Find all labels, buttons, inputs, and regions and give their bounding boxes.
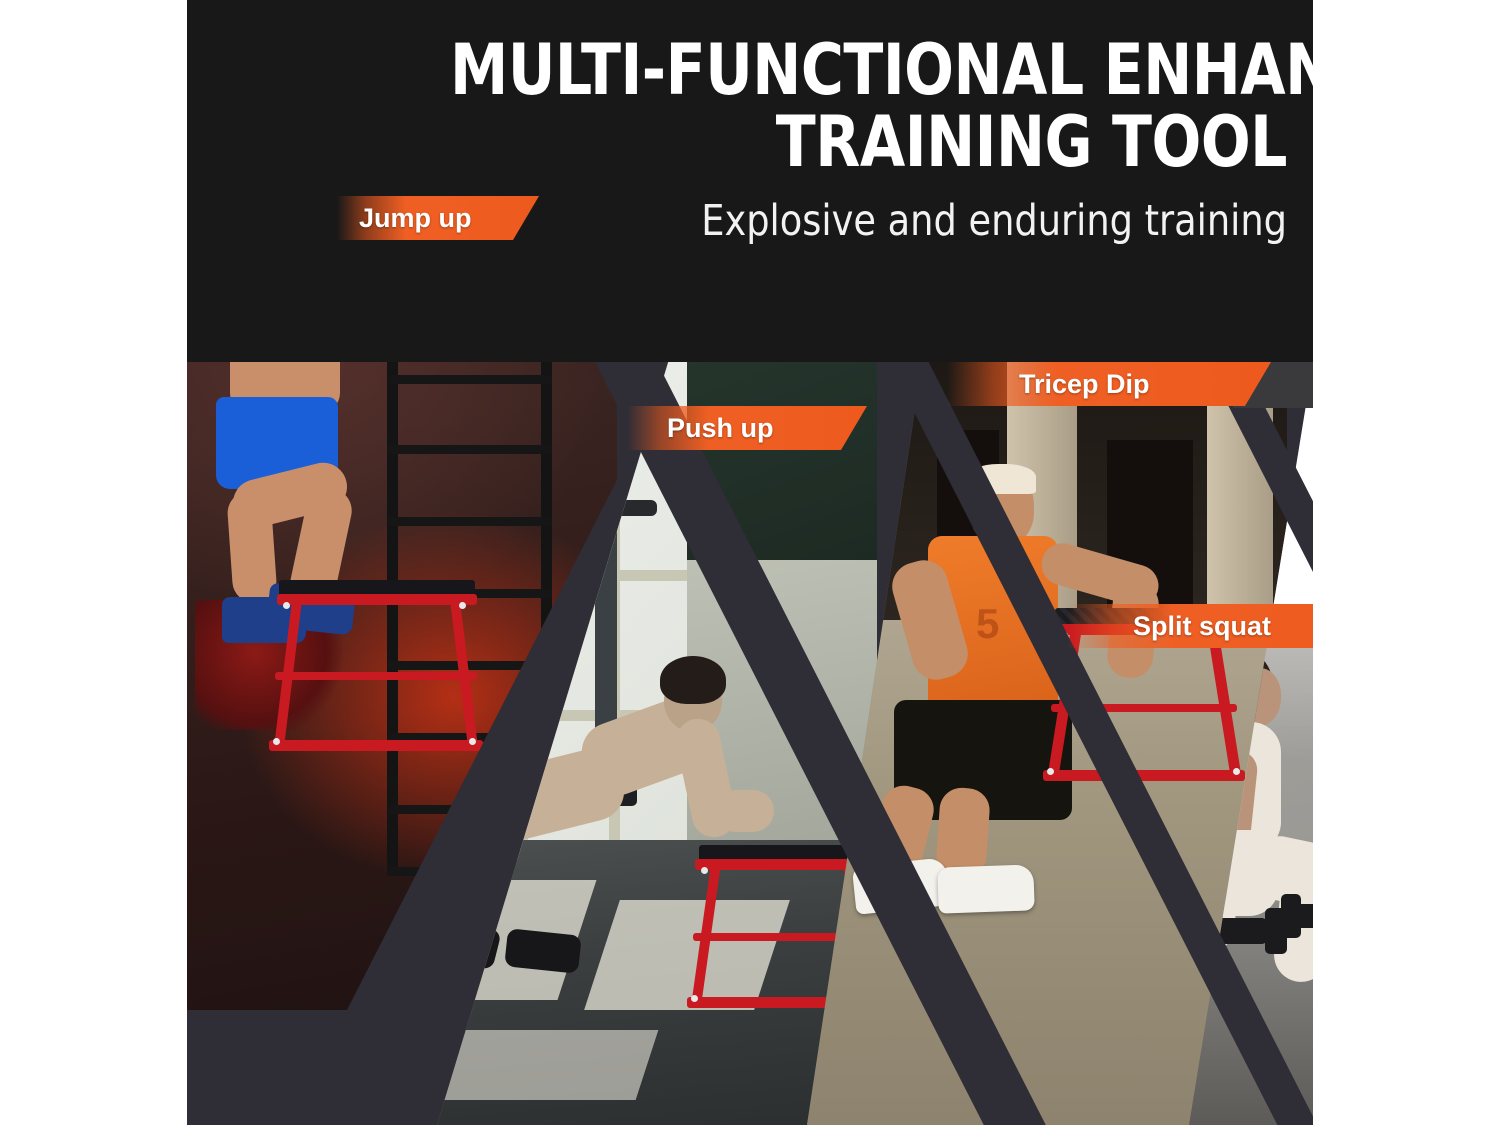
page-title-line-1: MULTI-FUNCTIONAL ENHANCED: [450, 34, 1287, 106]
badge-push-up: Push up: [627, 406, 867, 450]
badge-jump-up-label: Jump up: [359, 203, 472, 234]
badge-split-squat-label: Split squat: [1133, 611, 1271, 642]
page-title-line-2: TRAINING TOOL: [450, 106, 1287, 178]
plyo-box-jump-up: [267, 580, 482, 760]
infographic-canvas: 5: [187, 0, 1313, 1125]
badge-tricep-dip: Tricep Dip: [947, 362, 1271, 406]
badge-jump-up: Jump up: [337, 196, 539, 240]
badge-push-up-label: Push up: [667, 413, 774, 444]
page-subtitle: Explosive and enduring training: [432, 192, 1287, 250]
badge-split-squat: Split squat: [1067, 604, 1313, 648]
product-infographic: 5: [0, 0, 1500, 1125]
badge-tricep-dip-label: Tricep Dip: [1019, 369, 1150, 400]
